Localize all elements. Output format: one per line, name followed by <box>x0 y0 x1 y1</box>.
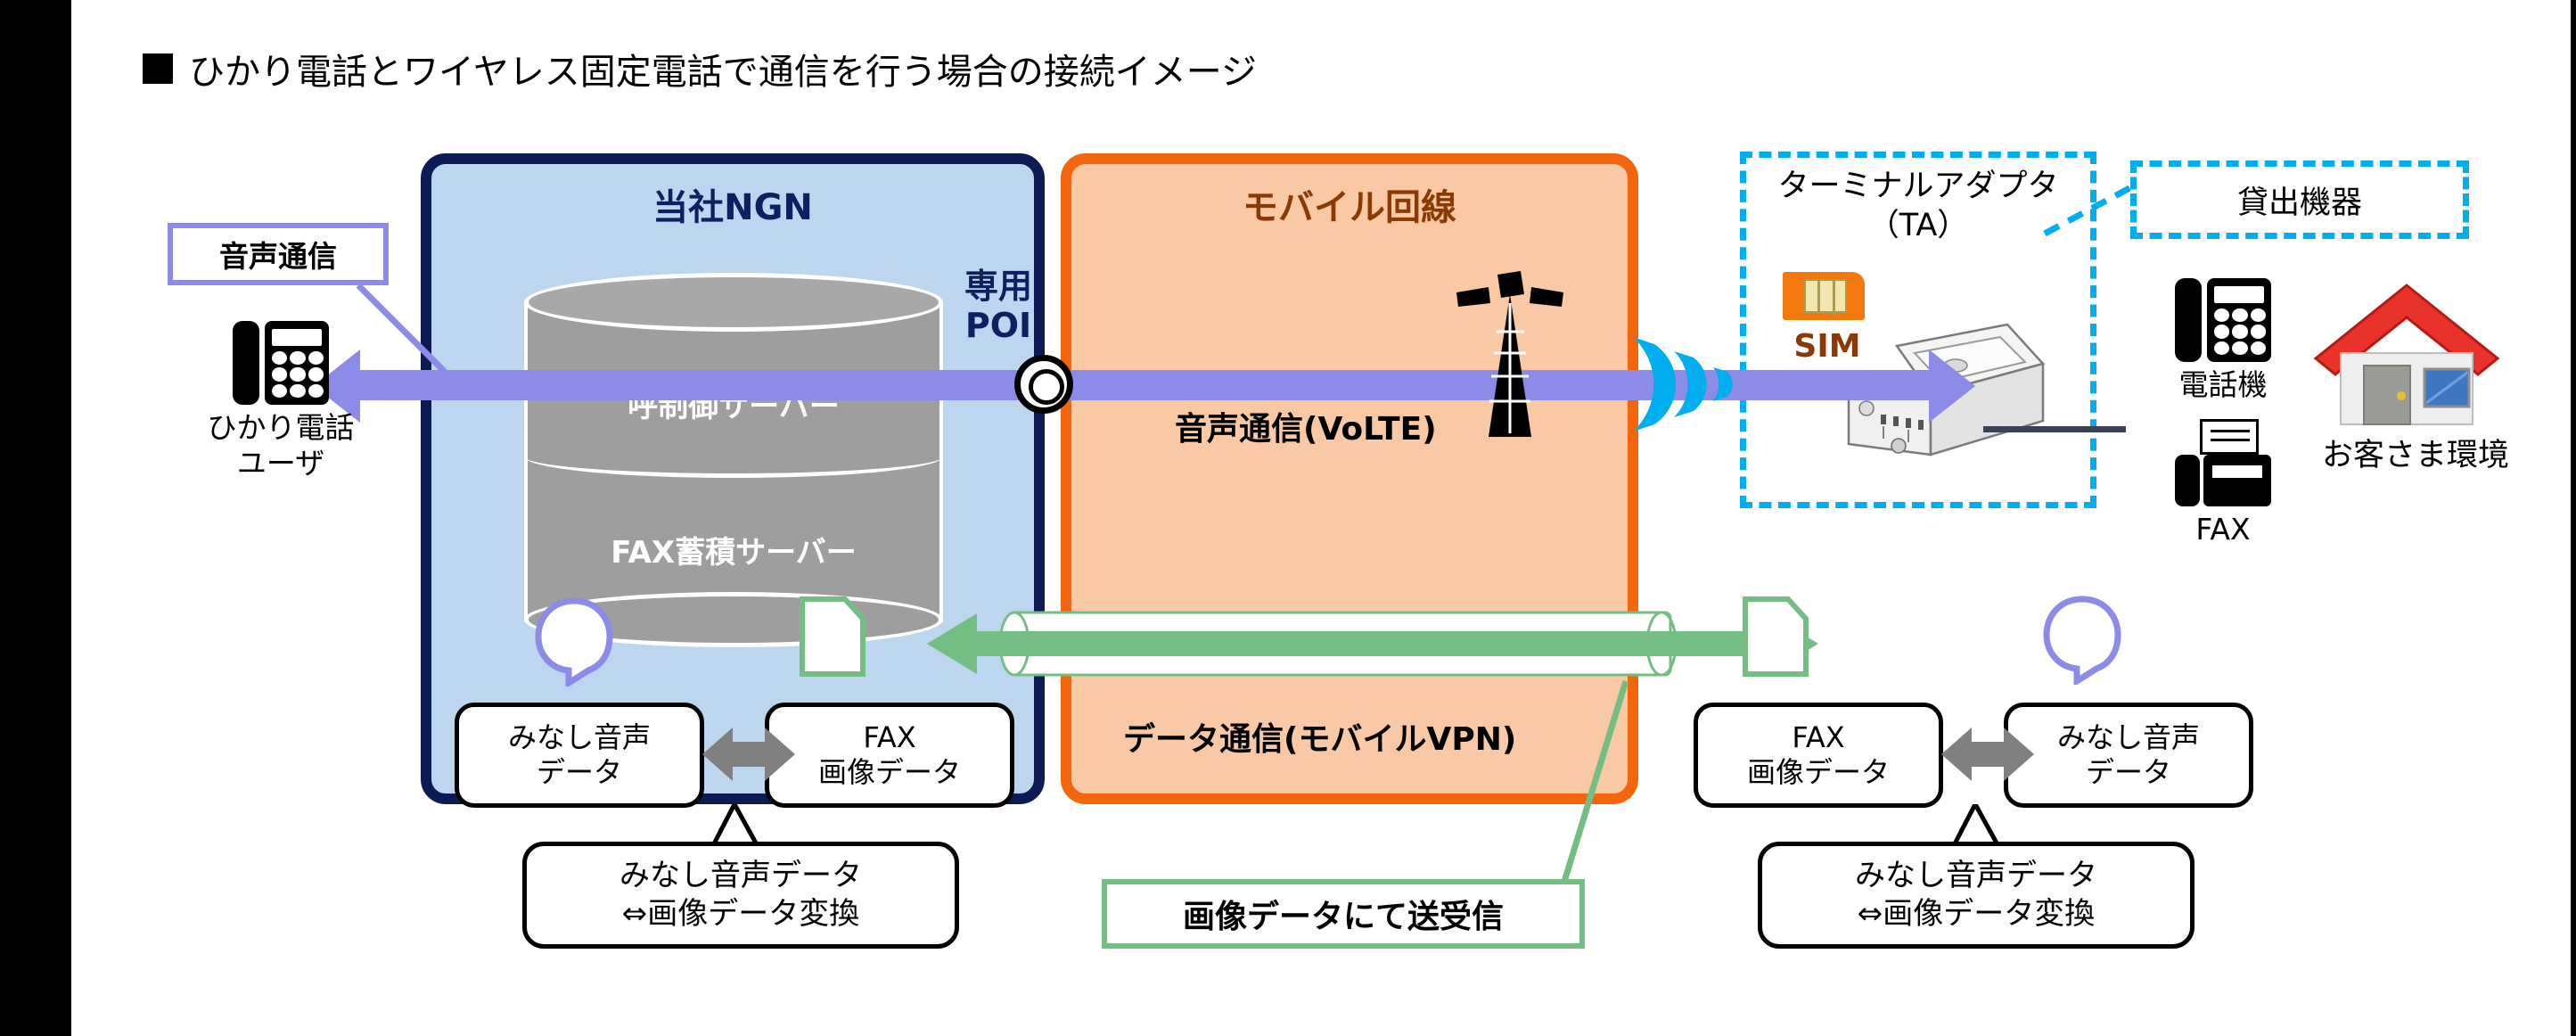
sim-chip-icon <box>1804 279 1847 313</box>
page-title-text: ひかり電話とワイヤレス固定電話で通信を行う場合の接続イメージ <box>189 43 1257 95</box>
volte-label: 音声通信(VoLTE) <box>1175 403 1437 449</box>
voice-callout-leader-line <box>355 284 455 383</box>
customer-phone-group: 電話機 <box>2143 276 2303 403</box>
left-pseudo-voice-line2: データ <box>537 755 622 790</box>
desk-phone-icon <box>233 319 329 407</box>
right-fax-image-line1: FAX <box>1792 720 1844 755</box>
customer-fax-group: FAX <box>2143 419 2303 547</box>
left-fax-image-line1: FAX <box>863 720 915 755</box>
cylinder-top <box>524 273 943 332</box>
customer-desk-phone-icon <box>2175 276 2271 364</box>
house-icon <box>2309 276 2505 428</box>
left-fax-image-data-box: FAX 画像データ <box>765 703 1014 808</box>
left-data-exchange-arrow <box>702 720 795 788</box>
right-data-exchange-arrow <box>1941 720 2034 788</box>
left-black-band <box>0 0 71 1036</box>
fax-storage-server-label: FAX蓄積サーバー <box>524 528 943 571</box>
fax-document-icon-right <box>1742 596 1809 678</box>
left-fax-image-line2: 画像データ <box>818 755 961 790</box>
lending-equipment-label: 貸出機器 <box>2130 160 2469 239</box>
cylinder-divider <box>524 435 943 478</box>
left-conversion-line2: ⇔画像データ変換 <box>622 895 860 933</box>
bullet-square-icon <box>143 53 173 84</box>
right-fax-image-data-box: FAX 画像データ <box>1694 703 1943 808</box>
poi-connector-icon <box>1014 355 1073 414</box>
left-pseudo-voice-data-box: みなし音声 データ <box>455 703 704 808</box>
voice-arrow-head-right <box>1929 349 1975 423</box>
customer-environment-label: お客さま環境 <box>2273 430 2558 475</box>
left-conversion-line1: みなし音声データ <box>619 857 862 895</box>
voice-bubble-icon-right <box>2041 596 2123 685</box>
fax-document-icon-left <box>799 596 866 678</box>
right-black-band <box>2571 0 2576 1036</box>
cell-tower-icon <box>1439 267 1581 437</box>
right-conversion-note: みなし音声データ ⇔画像データ変換 <box>1758 842 2195 949</box>
left-conversion-note: みなし音声データ ⇔画像データ変換 <box>522 842 959 949</box>
mobile-title: モバイル回線 <box>1061 178 1638 230</box>
poi-label: 専用 POI <box>945 267 1052 345</box>
customer-phone-label: 電話機 <box>2143 367 2303 403</box>
customer-fax-label: FAX <box>2143 512 2303 547</box>
poi-label-line2: POI <box>945 307 1052 346</box>
right-conversion-line1: みなし音声データ <box>1855 857 2097 895</box>
right-fax-image-line2: 画像データ <box>1747 755 1890 790</box>
ngn-title: 当社NGN <box>421 178 1045 230</box>
page-title: ひかり電話とワイヤレス固定電話で通信を行う場合の接続イメージ <box>143 43 1257 95</box>
image-data-leader-line <box>1515 678 1631 892</box>
right-pseudo-voice-data-box: みなし音声 データ <box>2004 703 2253 808</box>
right-pseudo-voice-line1: みなし音声 <box>2057 720 2200 755</box>
diagram-canvas: ひかり電話とワイヤレス固定電話で通信を行う場合の接続イメージ 当社NGN モバイ… <box>0 0 2576 1036</box>
hikari-user-label: ひかり電話 ユーザ <box>169 410 392 481</box>
right-conversion-line2: ⇔画像データ変換 <box>1858 895 2096 933</box>
data-bidirectional-arrow <box>927 608 1818 679</box>
hikari-user-label-line1: ひかり電話 <box>169 410 392 446</box>
hikari-user-label-line2: ユーザ <box>169 446 392 481</box>
right-pseudo-voice-line2: データ <box>2086 755 2171 790</box>
poi-label-line1: 専用 <box>945 267 1052 307</box>
mobile-vpn-label: データ通信(モバイルVPN) <box>1123 713 1516 760</box>
ta-cable <box>1983 426 2126 432</box>
image-data-transmission-label: 画像データにて送受信 <box>1102 879 1585 949</box>
left-pseudo-voice-line1: みなし音声 <box>508 720 651 755</box>
wireless-signal-icon <box>1628 332 1761 437</box>
voice-communication-callout: 音声通信 <box>168 223 389 285</box>
server-cylinder: 呼制御サーバー FAX蓄積サーバー <box>524 273 943 647</box>
voice-bubble-icon-left <box>533 597 615 687</box>
fax-machine-icon <box>2175 419 2271 508</box>
